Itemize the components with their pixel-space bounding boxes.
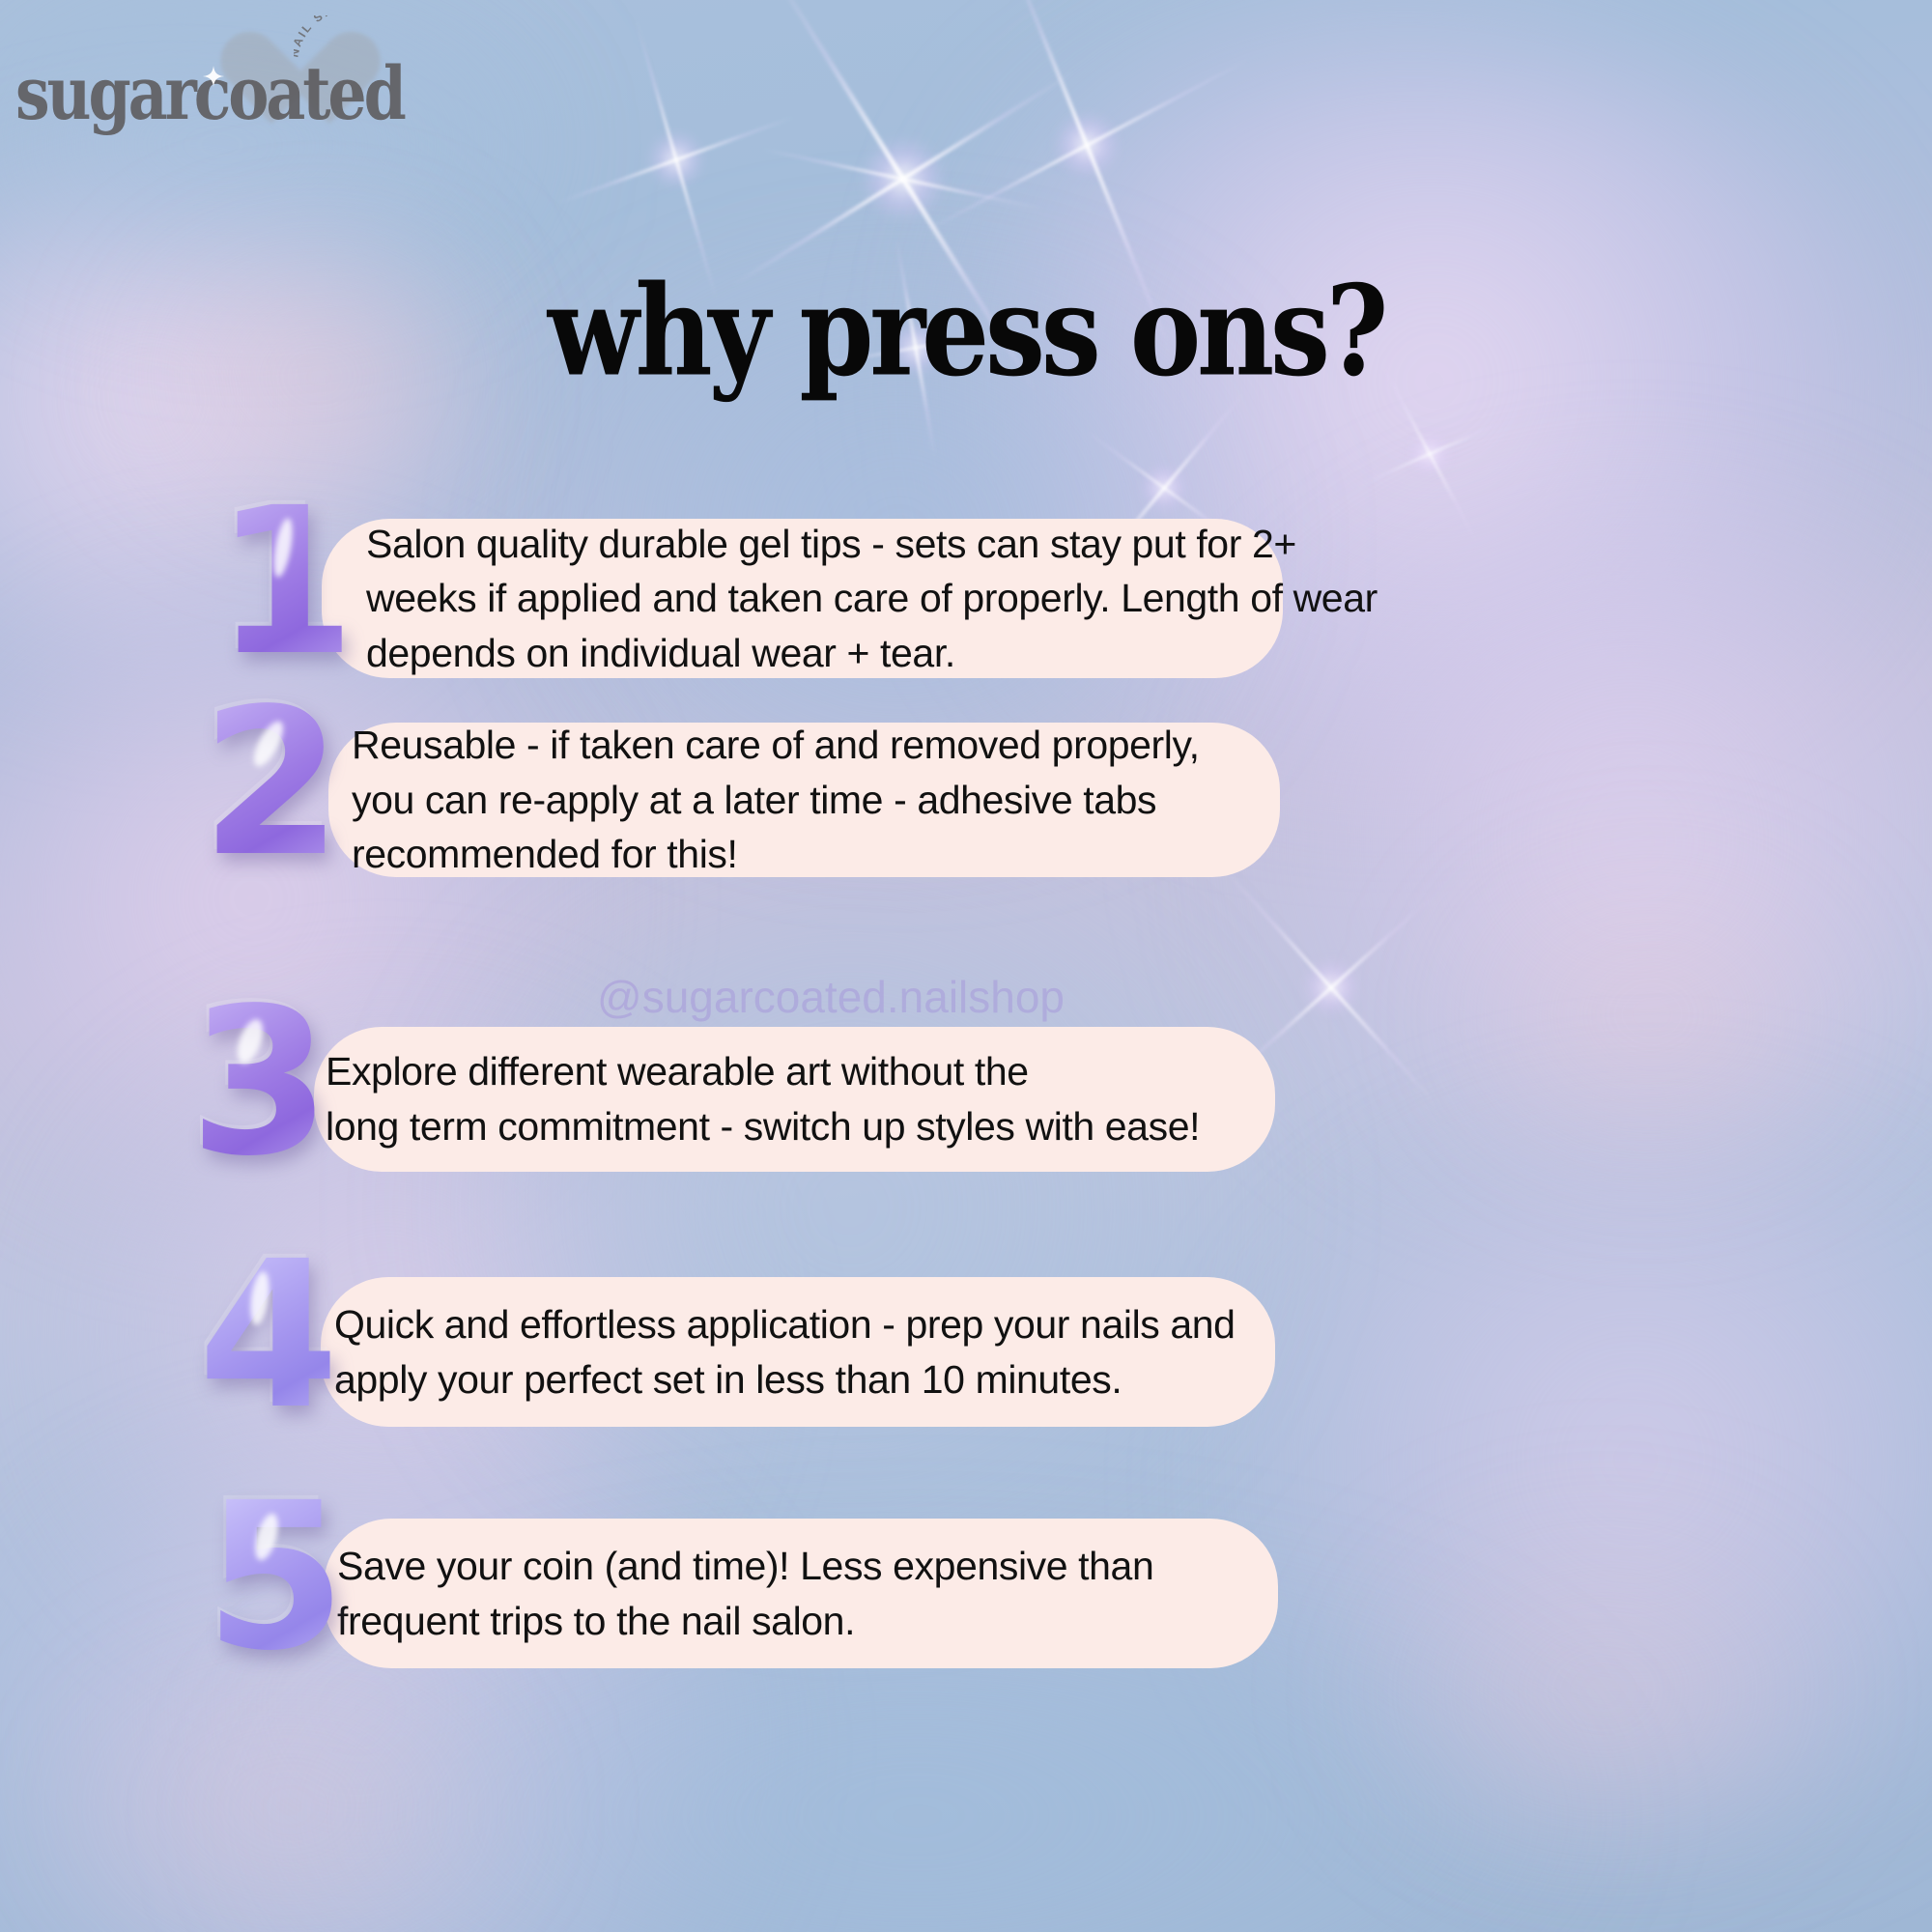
list-item-card: Quick and effortless application - prep … — [321, 1277, 1275, 1427]
benefits-list: 1 Salon quality durable gel tips - sets … — [0, 0, 1932, 1932]
list-item-line: Salon quality durable gel tips - sets ca… — [366, 517, 1238, 572]
list-item-card: Reusable - if taken care of and removed … — [328, 723, 1280, 877]
list-item-line: Save your coin (and time)! Less expensiv… — [337, 1539, 1264, 1594]
list-item-card: Salon quality durable gel tips - sets ca… — [322, 519, 1283, 678]
poster-canvas: sugarcoated NAIL SHOP why press ons? 1 — [0, 0, 1932, 1932]
list-item-line: Reusable - if taken care of and removed … — [352, 718, 1257, 773]
list-item-line: weeks if applied and taken care of prope… — [366, 571, 1238, 626]
list-item-line: you can re-apply at a later time - adhes… — [352, 773, 1257, 828]
list-item-line: Quick and effortless application - prep … — [334, 1297, 1262, 1352]
list-item-number: 3 — [189, 981, 327, 1184]
list-item-line: Explore different wearable art without t… — [326, 1044, 1264, 1099]
list-item-line: recommended for this! — [352, 827, 1257, 882]
list-item-line: long term commitment - switch up styles … — [326, 1099, 1264, 1154]
list-item-number: 5 — [205, 1476, 342, 1679]
list-item-card: Save your coin (and time)! Less expensiv… — [324, 1519, 1278, 1668]
list-item-line: apply your perfect set in less than 10 m… — [334, 1352, 1262, 1407]
list-item-number: 2 — [201, 682, 338, 885]
watermark-handle: @sugarcoated.nailshop — [597, 971, 1065, 1023]
list-item-line: depends on individual wear + tear. — [366, 626, 1238, 681]
list-item-number: 4 — [198, 1235, 335, 1437]
list-item-line: frequent trips to the nail salon. — [337, 1594, 1264, 1649]
list-item-number: 1 — [214, 481, 352, 684]
list-item-card: Explore different wearable art without t… — [314, 1027, 1275, 1172]
